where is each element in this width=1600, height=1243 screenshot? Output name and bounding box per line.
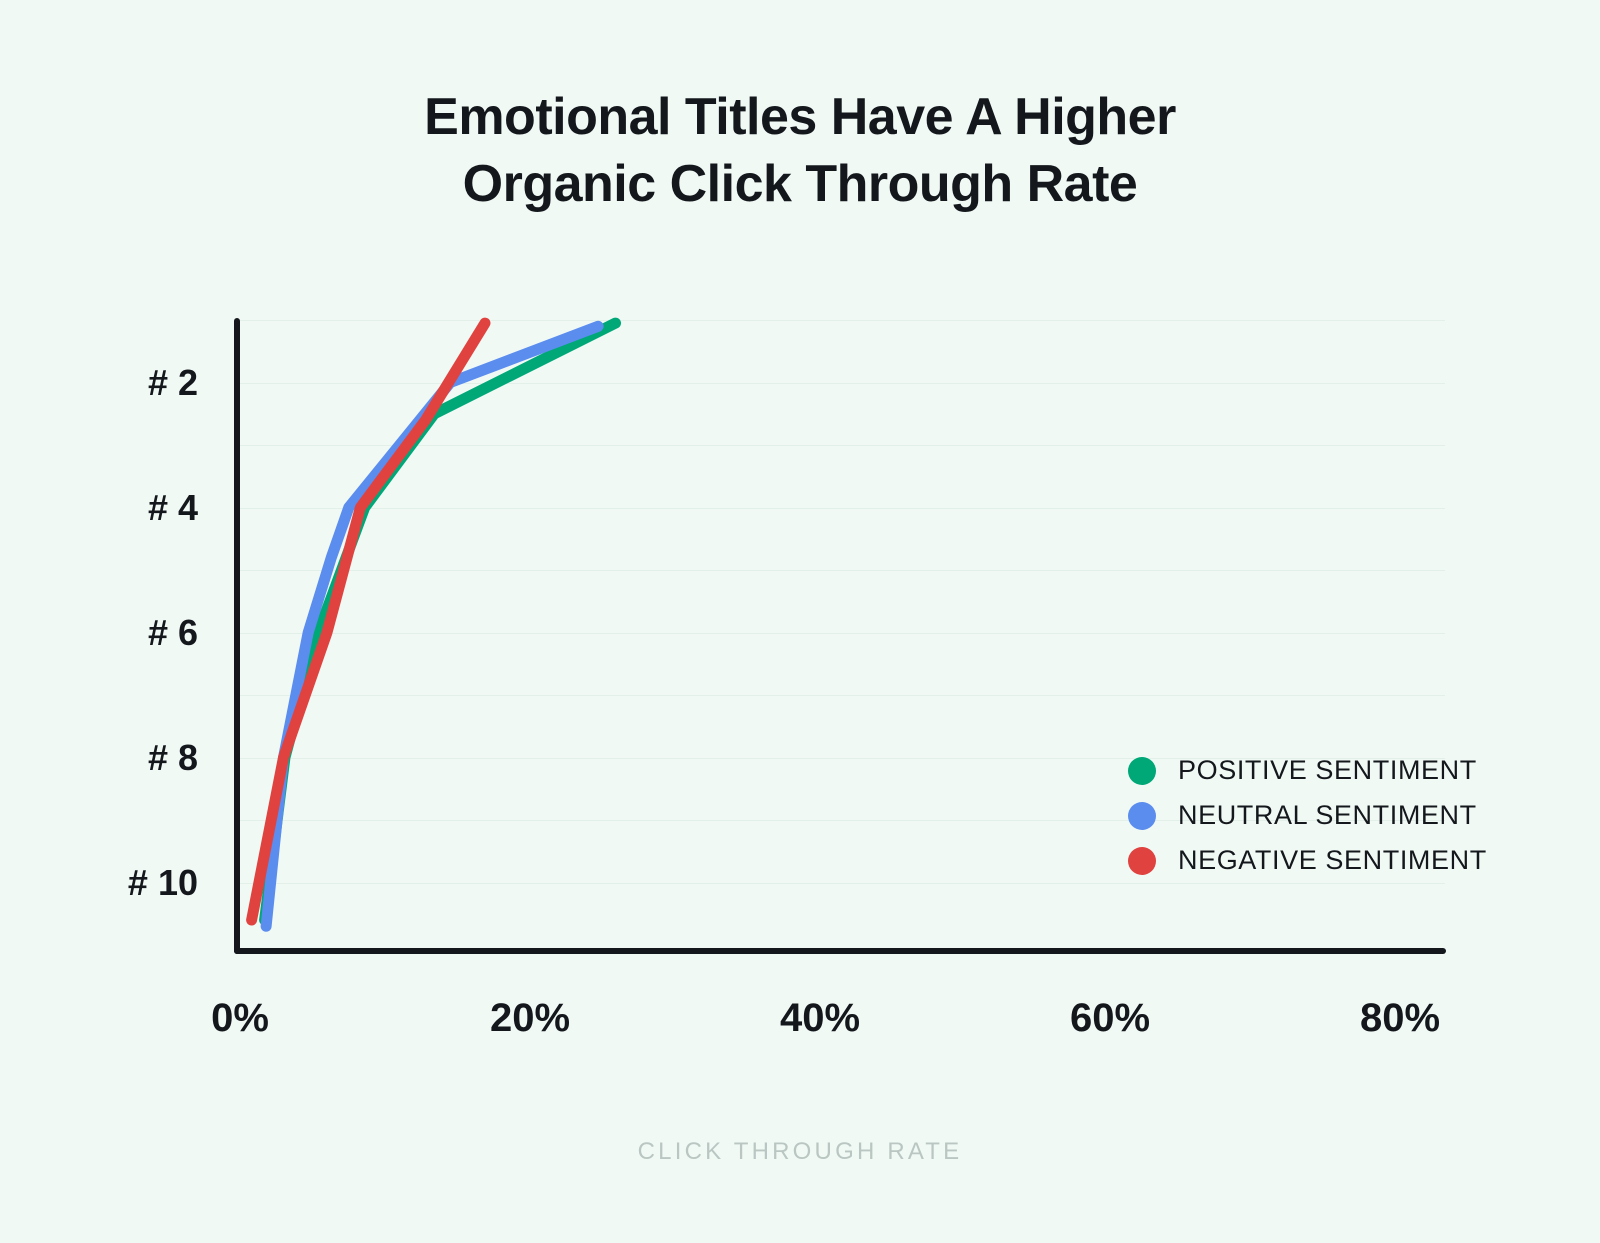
x-tick-label: 60%: [1070, 996, 1150, 1041]
y-tick-label: # 2: [148, 362, 198, 404]
series-line-negative-sentiment: [252, 323, 485, 920]
legend-label: NEGATIVE SENTIMENT: [1178, 845, 1487, 876]
chart-title: Emotional Titles Have A Higher Organic C…: [0, 84, 1600, 217]
x-tick-label: 20%: [490, 996, 570, 1041]
legend-dot-icon: [1128, 757, 1156, 785]
legend-dot-icon: [1128, 802, 1156, 830]
chart-legend: POSITIVE SENTIMENTNEUTRAL SENTIMENTNEGAT…: [1128, 748, 1487, 883]
x-tick-label: 40%: [780, 996, 860, 1041]
legend-dot-icon: [1128, 847, 1156, 875]
legend-label: POSITIVE SENTIMENT: [1178, 755, 1477, 786]
x-tick-label: 80%: [1360, 996, 1440, 1041]
legend-item[interactable]: NEUTRAL SENTIMENT: [1128, 793, 1487, 838]
y-axis-line: [234, 318, 240, 954]
y-tick-label: # 6: [148, 612, 198, 654]
y-tick-label: # 8: [148, 737, 198, 779]
x-axis-line: [234, 948, 1446, 954]
x-tick-label: 0%: [211, 996, 269, 1041]
chart-container: Emotional Titles Have A Higher Organic C…: [0, 0, 1600, 1243]
legend-item[interactable]: POSITIVE SENTIMENT: [1128, 748, 1487, 793]
y-tick-label: # 10: [128, 862, 198, 904]
legend-item[interactable]: NEGATIVE SENTIMENT: [1128, 838, 1487, 883]
legend-label: NEUTRAL SENTIMENT: [1178, 800, 1477, 831]
x-axis-caption: CLICK THROUGH RATE: [0, 1138, 1600, 1166]
y-tick-label: # 4: [148, 487, 198, 529]
